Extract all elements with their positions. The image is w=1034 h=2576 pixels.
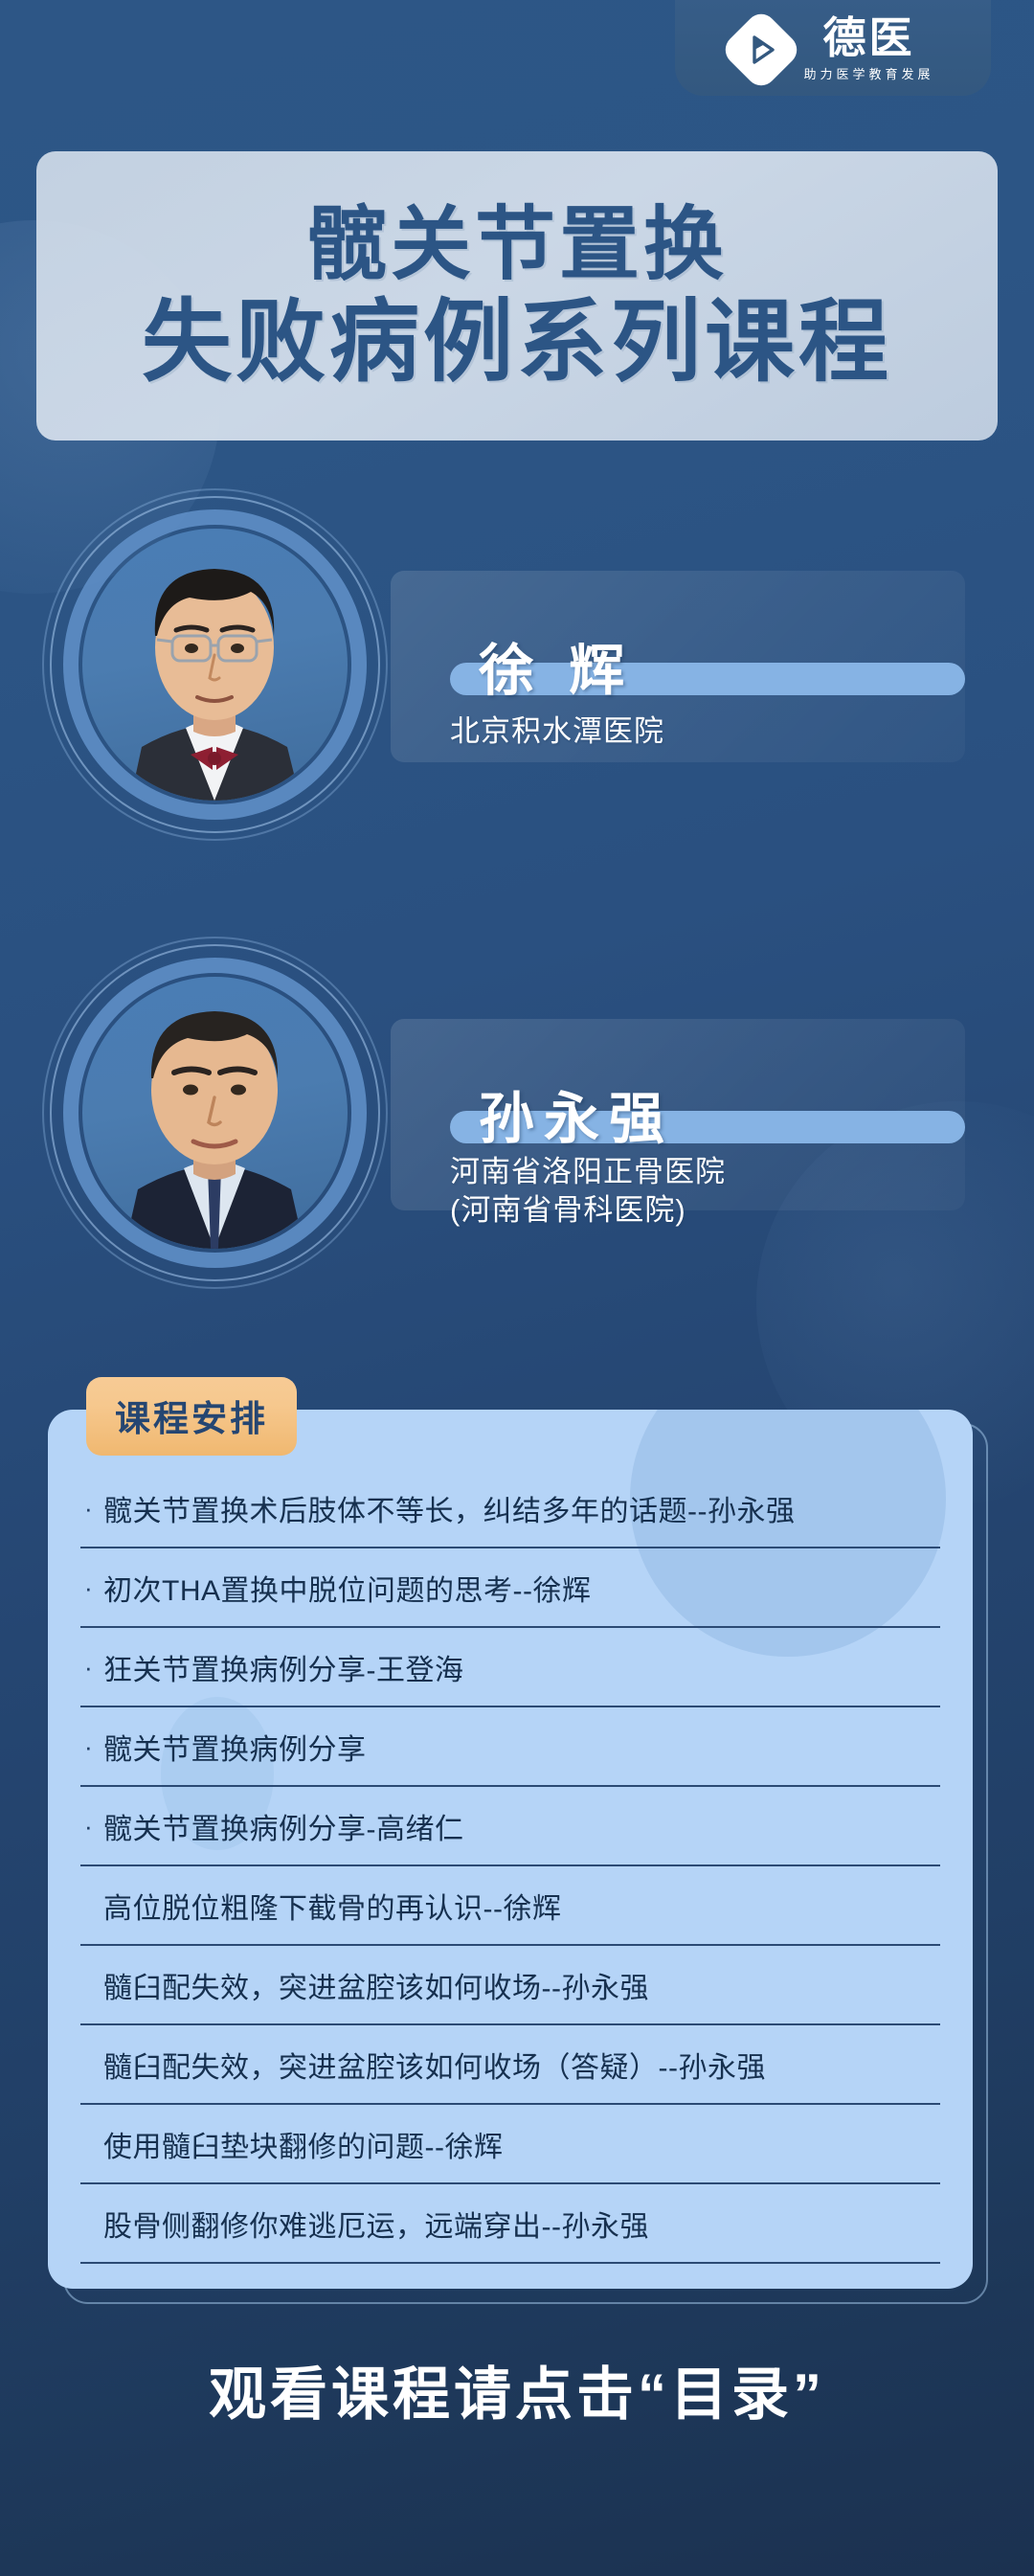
title-line-1: 髋关节置换 (306, 199, 728, 289)
speaker-name-row-1: 徐 辉 (450, 632, 986, 695)
schedule-list-item[interactable]: ·髋关节置换病例分享-高绪仁 (80, 1787, 940, 1866)
schedule-list-item[interactable]: ·髓臼配失效，突进盆腔该如何收场--孙永强 (80, 1946, 940, 2025)
schedule-item-bullet-icon: · (80, 1575, 103, 1600)
schedule-list-item[interactable]: ·髋关节置换病例分享 (80, 1707, 940, 1787)
schedule-item-bullet-icon: · (80, 1734, 103, 1759)
schedule-item-bullet-icon: · (80, 1655, 103, 1680)
schedule-item-label: 髓臼配失效，突进盆腔该如何收场--孙永强 (103, 1964, 649, 2006)
cta-text: 观看课程请点击“目录” (0, 2348, 1034, 2431)
brand-name: 德医 (822, 16, 914, 60)
brand-tagline: 助力医学教育发展 (803, 64, 933, 82)
speaker-affiliation-2-line2: (河南省骨科医院) (450, 1191, 726, 1230)
schedule-list-item[interactable]: ·初次THA置换中脱位问题的思考--徐辉 (80, 1548, 940, 1628)
schedule-badge: 课程安排 (86, 1377, 297, 1456)
schedule-item-label: 初次THA置换中脱位问题的思考--徐辉 (103, 1567, 591, 1609)
poster-root: 德医 助力医学教育发展 髋关节置换 失败病例系列课程 (0, 0, 1034, 2576)
schedule-item-label: 髋关节置换病例分享-高绪仁 (103, 1805, 464, 1847)
schedule-item-bullet-icon: · (80, 1496, 103, 1521)
brand-logo-text: 德医 助力医学教育发展 (803, 16, 933, 82)
brand-logo-inner: 德医 助力医学教育发展 (731, 16, 933, 82)
schedule-item-label: 髋关节置换术后肢体不等长，纠结多年的话题--孙永强 (103, 1487, 795, 1529)
title-panel: 髋关节置换 失败病例系列课程 (36, 151, 998, 441)
schedule-list-item[interactable]: ·狂关节置换病例分享-王登海 (80, 1628, 940, 1707)
schedule-item-label: 狂关节置换病例分享-王登海 (103, 1646, 464, 1688)
schedule-item-label: 髓臼配失效，突进盆腔该如何收场（答疑）--孙永强 (103, 2044, 766, 2086)
title-line-2: 失败病例系列课程 (142, 291, 892, 392)
schedule-panel: ·髋关节置换术后肢体不等长，纠结多年的话题--孙永强·初次THA置换中脱位问题的… (48, 1410, 973, 2289)
speaker-block-1: 徐 辉 北京积水潭医院 (0, 488, 1034, 833)
schedule-item-label: 髋关节置换病例分享 (103, 1726, 367, 1768)
speaker-name-2: 孙永强 (479, 1092, 674, 1147)
speaker-affiliation-2: 河南省洛阳正骨医院 (河南省骨科医院) (450, 1153, 726, 1229)
schedule-list-item[interactable]: ·股骨侧翻修你难逃厄运，远端穿出--孙永强 (80, 2184, 940, 2264)
speaker-avatar-2 (82, 977, 348, 1249)
speaker-avatar-1 (82, 529, 348, 801)
schedule-item-label: 高位脱位粗隆下截骨的再认识--徐辉 (103, 1885, 561, 1927)
play-arrow-logo-icon (720, 8, 804, 92)
schedule-list-item[interactable]: ·髓臼配失效，突进盆腔该如何收场（答疑）--孙永强 (80, 2025, 940, 2105)
schedule-list-item[interactable]: ·髋关节置换术后肢体不等长，纠结多年的话题--孙永强 (80, 1469, 940, 1548)
speaker-affiliation-2-line1: 河南省洛阳正骨医院 (450, 1153, 726, 1191)
schedule-list: ·髋关节置换术后肢体不等长，纠结多年的话题--孙永强·初次THA置换中脱位问题的… (48, 1469, 973, 2264)
speaker-block-2: 孙永强 河南省洛阳正骨医院 (河南省骨科医院) (0, 937, 1034, 1281)
schedule-list-item[interactable]: ·高位脱位粗隆下截骨的再认识--徐辉 (80, 1866, 940, 1946)
schedule-item-label: 使用髓臼垫块翻修的问题--徐辉 (103, 2123, 503, 2165)
speaker-affiliation-1: 北京积水潭医院 (450, 712, 664, 751)
schedule-list-item[interactable]: ·使用髓臼垫块翻修的问题--徐辉 (80, 2105, 940, 2184)
schedule-item-label: 股骨侧翻修你难逃厄运，远端穿出--孙永强 (103, 2203, 649, 2245)
schedule-item-bullet-icon: · (80, 1814, 103, 1839)
speaker-name-row-2: 孙永强 (450, 1080, 986, 1143)
speaker-name-1: 徐 辉 (479, 644, 634, 699)
brand-logo: 德医 助力医学教育发展 (675, 0, 991, 96)
